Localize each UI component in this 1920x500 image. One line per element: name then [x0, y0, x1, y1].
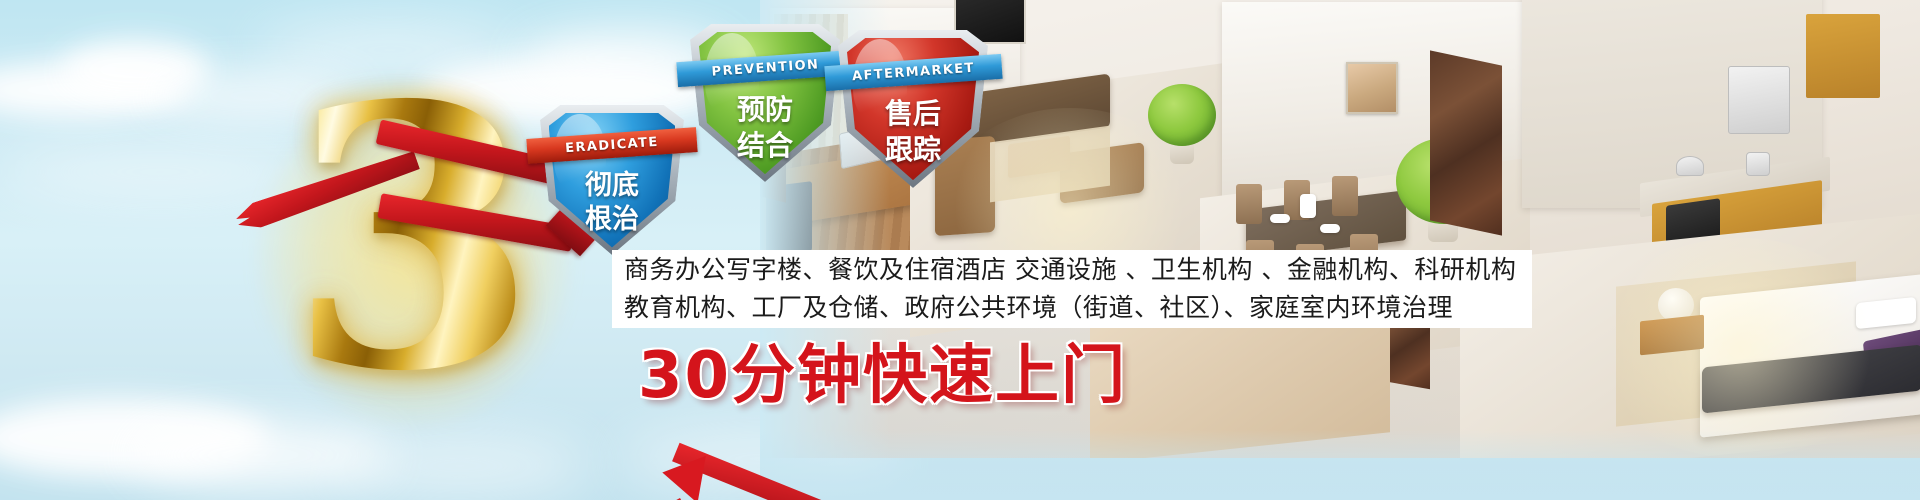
plant-foliage	[1148, 84, 1216, 146]
upper-cabinet	[1806, 14, 1880, 98]
badge-aftermarket[interactable]: AFTERMARKET 售后 跟踪	[838, 30, 988, 188]
framed-picture	[1346, 62, 1398, 114]
scope-line-2: 教育机构、工厂及仓储、政府公共环境（街道、社区）、家庭室内环境治理	[624, 289, 1532, 327]
badge-chinese-line1: 预防	[690, 88, 840, 128]
tableware-plate	[1270, 214, 1290, 223]
cooktop-pot	[1676, 156, 1704, 176]
tableware-plate	[1320, 224, 1340, 233]
scope-line-1: 商务办公写字楼、餐饮及住宿酒店 交通设施 、卫生机构 、金融机构、科研机构	[624, 251, 1532, 289]
badge-chinese-line1: 售后	[838, 92, 988, 132]
range-hood	[1728, 66, 1790, 134]
arrow-head	[658, 449, 706, 500]
centerpiece-vase	[1300, 194, 1316, 218]
dining-chair	[1332, 176, 1358, 216]
interior-bottom-blend	[760, 430, 1920, 500]
service-scope-panel: 商务办公写字楼、餐饮及住宿酒店 交通设施 、卫生机构 、金融机构、科研机构 教育…	[612, 250, 1532, 328]
badge-chinese-line2: 跟踪	[838, 128, 988, 168]
headline-text: 30分钟快速上门	[638, 340, 1127, 412]
cloud-shape	[0, 62, 190, 118]
cloud-shape	[60, 40, 210, 100]
promo-banner: 3 ERADICATE 彻底 根治 PREVENTION 预防 结合	[0, 0, 1920, 500]
kettle	[1746, 152, 1770, 176]
badge-eradicate[interactable]: ERADICATE 彻底 根治	[540, 105, 684, 255]
dining-chair	[1236, 184, 1262, 224]
nightstand	[1640, 315, 1704, 356]
badge-prevention[interactable]: PREVENTION 预防 结合	[690, 24, 840, 182]
badge-chinese-line2: 结合	[690, 124, 840, 164]
badge-chinese-line2: 根治	[540, 197, 684, 236]
cloud-shape	[0, 398, 270, 478]
marble-feature-wall	[1430, 50, 1502, 235]
